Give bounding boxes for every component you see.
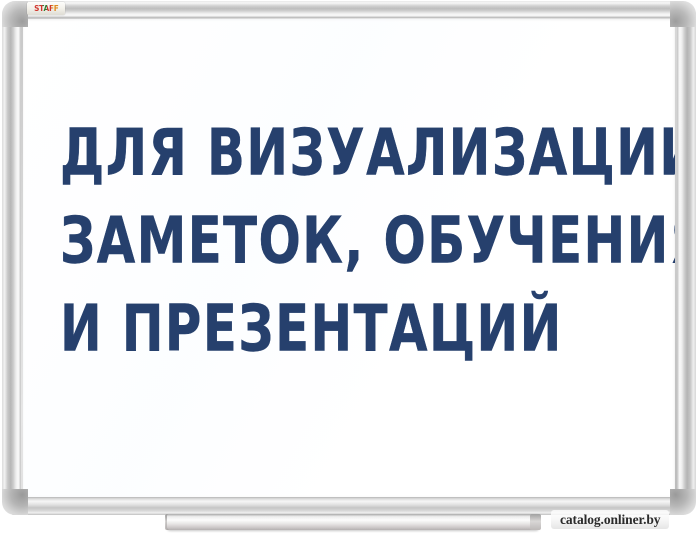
site-watermark: catalog.onliner.by [551,510,669,529]
board-text-line-3: И ПРЕЗЕНТАЦИЙ [60,280,642,379]
frame-rail-right [677,12,696,502]
whiteboard-surface[interactable]: ДЛЯ ВИЗУАЛИЗАЦИИ, ЗАМЕТОК, ОБУЧЕНИЯ И ПР… [23,19,675,497]
marker-tray[interactable] [167,514,539,530]
whiteboard: ДЛЯ ВИЗУАЛИЗАЦИИ, ЗАМЕТОК, ОБУЧЕНИЯ И ПР… [2,1,696,517]
product-photo: ДЛЯ ВИЗУАЛИЗАЦИИ, ЗАМЕТОК, ОБУЧЕНИЯ И ПР… [0,0,700,541]
staff-brand-label-text: STAFF [34,5,59,13]
board-text-line-2: ЗАМЕТОК, ОБУЧЕНИЯ [60,192,642,291]
board-text-line-1: ДЛЯ ВИЗУАЛИЗАЦИИ, [60,104,642,203]
marker-tray-end-right [530,514,541,530]
site-watermark-text: catalog.onliner.by [560,513,660,527]
staff-brand-label: STAFF [27,2,65,15]
board-text-block: ДЛЯ ВИЗУАЛИЗАЦИИ, ЗАМЕТОК, ОБУЧЕНИЯ И ПР… [60,109,660,373]
